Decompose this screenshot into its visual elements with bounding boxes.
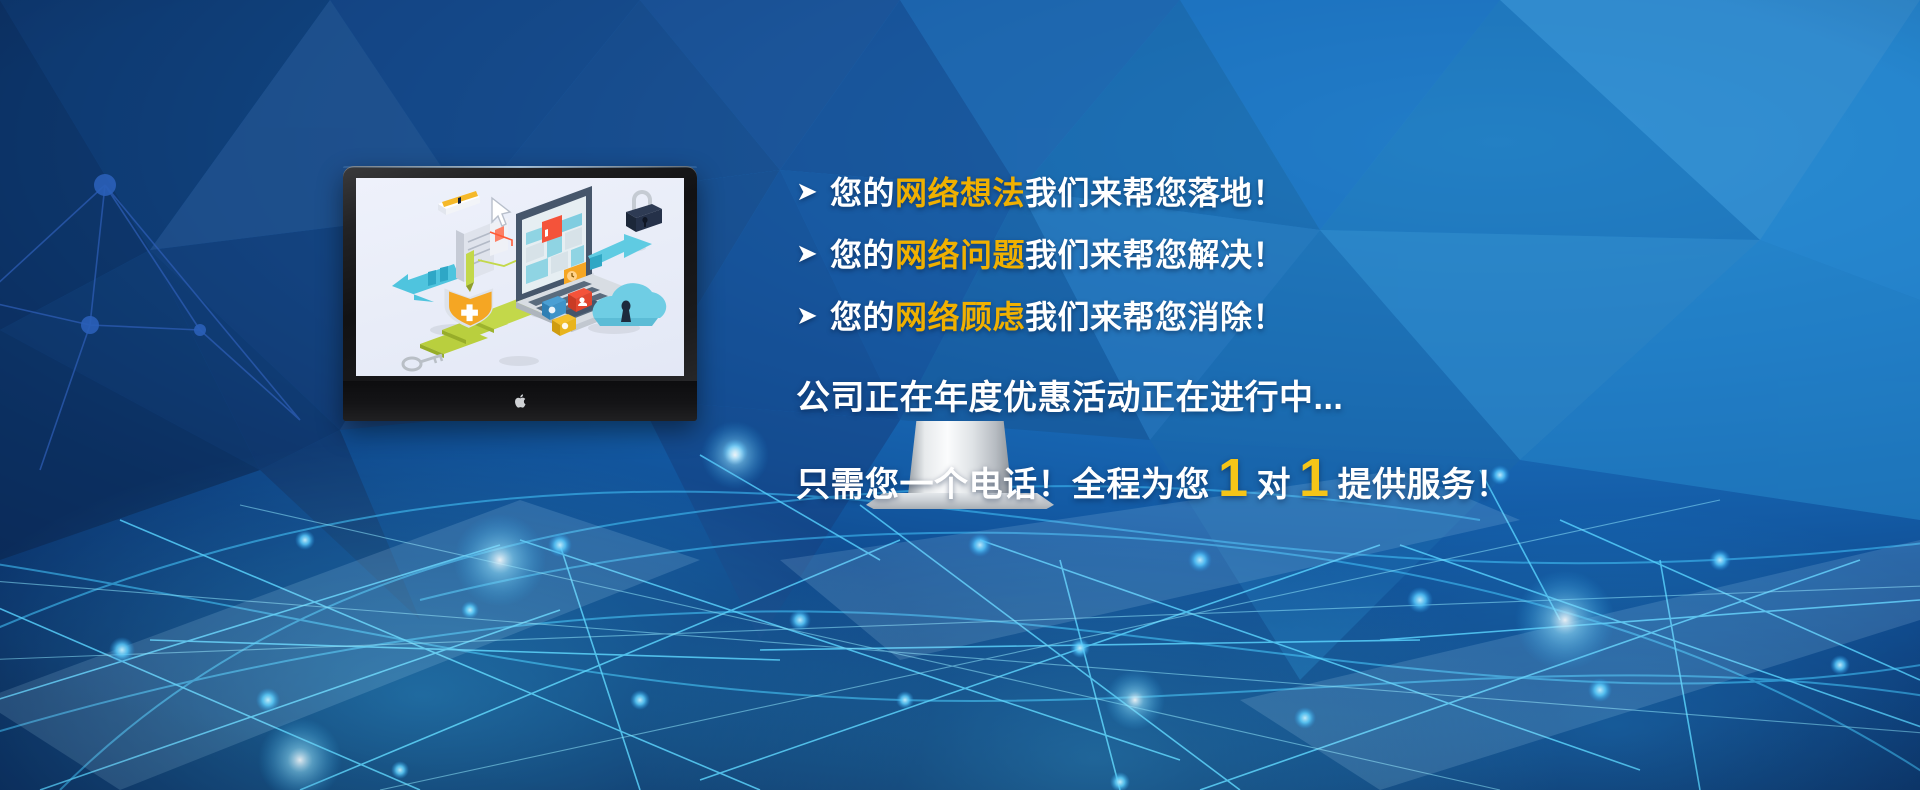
- document-list: [456, 218, 508, 282]
- imac-display: [343, 166, 697, 421]
- bullet-item-2: ➤ 您的网络问题我们来帮您解决！: [796, 222, 1846, 284]
- marketing-copy: ➤ 您的网络想法我们来帮您落地！ ➤ 您的网络问题我们来帮您解决！ ➤ 您的网络…: [796, 160, 1846, 506]
- promo-line: 公司正在年度优惠活动正在进行中...: [796, 370, 1846, 419]
- bullet-text-2: 您的网络问题我们来帮您解决！: [830, 230, 1285, 276]
- offer-mid: 对: [1257, 457, 1292, 506]
- bullet-item-1: ➤ 您的网络想法我们来帮您落地！: [796, 160, 1846, 222]
- cyan-arrow-right: [588, 234, 652, 270]
- padlock-icon: [626, 190, 662, 232]
- bullet-highlight-1: 网络想法: [895, 175, 1025, 211]
- bullet-highlight-2: 网络问题: [895, 237, 1025, 273]
- bullet-text-3: 您的网络顾虑我们来帮您消除！: [830, 292, 1285, 338]
- bullet-suffix-3: 我们来帮您消除！: [1025, 299, 1285, 335]
- pencil-icon: [466, 250, 474, 292]
- bullet-suffix-1: 我们来帮您落地！: [1025, 175, 1285, 211]
- bullet-prefix-3: 您的: [830, 299, 895, 335]
- bullet-prefix-2: 您的: [830, 237, 895, 273]
- offer-number-second: 1: [1299, 451, 1330, 505]
- monitor-screen: [356, 178, 684, 376]
- bullet-prefix-1: 您的: [830, 175, 895, 211]
- arrow-bullet-icon: ➤: [796, 240, 830, 266]
- monitor-chin: [343, 381, 697, 421]
- bullet-text-1: 您的网络想法我们来帮您落地！: [830, 168, 1285, 214]
- offer-part-2: 提供服务！: [1338, 457, 1511, 506]
- bullet-highlight-3: 网络顾虑: [895, 299, 1025, 335]
- offer-part-1: 只需您一个电话！全程为您: [796, 457, 1210, 506]
- apple-logo: [514, 393, 527, 409]
- access-card-icon: [438, 191, 480, 215]
- arrow-bullet-icon: ➤: [796, 302, 830, 328]
- isometric-network-security-illustration: [356, 178, 684, 376]
- arrow-bullet-icon: ➤: [796, 178, 830, 204]
- promotional-banner: ➤ 您的网络想法我们来帮您落地！ ➤ 您的网络问题我们来帮您解决！ ➤ 您的网络…: [0, 0, 1920, 790]
- offer-line: 只需您一个电话！全程为您 1 对 1 提供服务！: [796, 451, 1846, 506]
- key-icon: [403, 355, 442, 370]
- offer-number-first: 1: [1218, 451, 1249, 505]
- bullet-item-3: ➤ 您的网络顾虑我们来帮您消除！: [796, 284, 1846, 346]
- bullet-suffix-2: 我们来帮您解决！: [1025, 237, 1285, 273]
